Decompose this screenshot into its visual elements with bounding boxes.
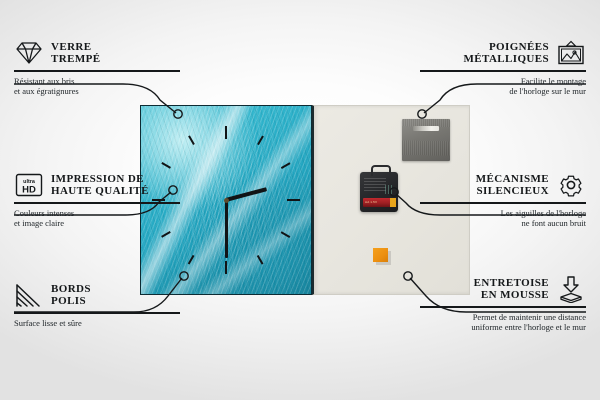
hour-hand bbox=[225, 187, 267, 202]
clock-tick bbox=[257, 136, 263, 145]
clock-tick bbox=[287, 199, 300, 201]
callout-verre-trempe: VERRE TREMPÉ Résistant aux bris et aux é… bbox=[14, 38, 180, 97]
clock-tick bbox=[188, 255, 194, 264]
callout-title: IMPRESSION DE HAUTE QUALITÉ bbox=[51, 173, 149, 198]
battery-text: AA 1.5V bbox=[365, 200, 377, 204]
callout-rule bbox=[14, 70, 180, 72]
callout-rule bbox=[14, 312, 180, 314]
callout-header: POIGNÉES MÉTALLIQUES bbox=[420, 38, 586, 68]
mechanism-label bbox=[364, 177, 386, 191]
handle-slot bbox=[413, 126, 439, 131]
callout-entretoise-en-mousse: ENTRETOISE EN MOUSSE Permet de maintenir… bbox=[420, 274, 586, 333]
clock-tick bbox=[162, 231, 171, 237]
callout-subtitle: Les aiguilles de l'horloge ne font aucun… bbox=[420, 208, 586, 229]
mechanism-vent bbox=[385, 185, 394, 194]
diamond-icon bbox=[14, 41, 44, 65]
callout-rule bbox=[14, 202, 180, 204]
callout-rule bbox=[420, 202, 586, 204]
clock-tick bbox=[225, 126, 227, 139]
callout-impression-haute-qualite: ultra HD IMPRESSION DE HAUTE QUALITÉ Cou… bbox=[14, 170, 180, 229]
clock-pivot bbox=[224, 198, 229, 203]
minute-hand bbox=[225, 200, 228, 258]
clock-tick bbox=[162, 162, 171, 168]
battery: AA 1.5V bbox=[363, 198, 395, 207]
clock-tick bbox=[225, 261, 227, 274]
callout-title: MÉCANISME SILENCIEUX bbox=[476, 173, 549, 198]
foam-spacer-icon bbox=[556, 275, 586, 303]
clock-tick bbox=[281, 231, 290, 237]
clock-tick bbox=[188, 136, 194, 145]
callout-bords-polis: BORDS POLIS Surface lisse et sûre bbox=[14, 280, 180, 328]
callout-subtitle: Surface lisse et sûre bbox=[14, 318, 180, 329]
callout-header: BORDS POLIS bbox=[14, 280, 180, 310]
product-infographic: AA 1.5V VERRE TRE bbox=[0, 0, 600, 400]
svg-text:HD: HD bbox=[22, 185, 36, 196]
callout-title: BORDS POLIS bbox=[51, 283, 91, 308]
mechanism-hook bbox=[371, 165, 391, 176]
callout-subtitle: Résistant aux bris et aux égratignures bbox=[14, 76, 180, 97]
callout-subtitle: Couleurs intenses et image claire bbox=[14, 208, 180, 229]
metal-handle-plate bbox=[402, 119, 450, 161]
callout-subtitle: Permet de maintenir une distance uniform… bbox=[420, 312, 586, 333]
gear-icon bbox=[556, 171, 586, 199]
framed-picture-icon bbox=[556, 40, 586, 66]
clock-mechanism-box: AA 1.5V bbox=[360, 172, 398, 212]
clock-tick bbox=[257, 255, 263, 264]
callout-mecanisme-silencieux: MÉCANISME SILENCIEUX Les aiguilles de l'… bbox=[420, 170, 586, 229]
ultra-hd-badge-icon: ultra HD bbox=[14, 172, 44, 198]
foam-spacer-part bbox=[373, 248, 388, 262]
callout-rule bbox=[420, 306, 586, 308]
callout-title: ENTRETOISE EN MOUSSE bbox=[474, 277, 549, 302]
callout-header: ENTRETOISE EN MOUSSE bbox=[420, 274, 586, 304]
callout-title: VERRE TREMPÉ bbox=[51, 41, 100, 66]
callout-title: POIGNÉES MÉTALLIQUES bbox=[464, 41, 550, 66]
callout-header: VERRE TREMPÉ bbox=[14, 38, 180, 68]
polished-edge-icon bbox=[14, 282, 44, 308]
callout-rule bbox=[420, 70, 586, 72]
callout-header: MÉCANISME SILENCIEUX bbox=[420, 170, 586, 200]
battery-positive-terminal bbox=[390, 198, 396, 207]
callout-poignees-metalliques: POIGNÉES MÉTALLIQUES Facilite le montage… bbox=[420, 38, 586, 97]
clock-tick bbox=[281, 162, 290, 168]
callout-header: ultra HD IMPRESSION DE HAUTE QUALITÉ bbox=[14, 170, 180, 200]
callout-subtitle: Facilite le montage de l'horloge sur le … bbox=[420, 76, 586, 97]
